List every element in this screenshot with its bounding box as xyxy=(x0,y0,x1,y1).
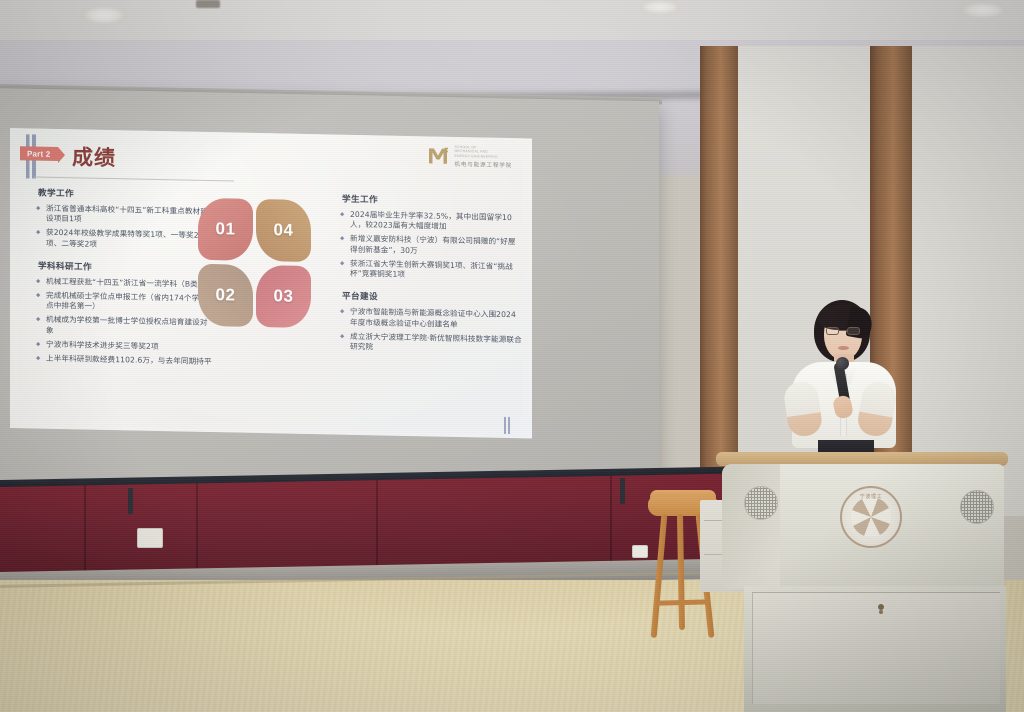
wall-pilaster xyxy=(700,46,738,516)
speaker-grille-icon xyxy=(960,490,994,524)
logo-en-line3: ENERGY ENGINEERING xyxy=(454,154,512,160)
stool-leg xyxy=(651,514,668,638)
list-item: 上半年科研到款经费1102.6万，与去年同期持平 xyxy=(36,353,214,367)
stool-rung xyxy=(658,599,710,605)
list-item: 浙江省普通本科高校“十四五”新工科重点教材建设项目1项 xyxy=(36,204,214,228)
bullet-list: 机械工程获批“十四五”浙江省一流学科（B类） 完成机械硕士学位点申报工作（省内1… xyxy=(36,277,214,367)
slide-decoration xyxy=(504,417,510,434)
school-logo: SCHOOL OF MECHANICAL AND ENERGY ENGINEER… xyxy=(427,144,512,168)
ceiling-light xyxy=(640,0,680,14)
speaker-grille-icon xyxy=(744,486,778,520)
title-divider xyxy=(34,176,234,181)
section-teaching: 教学工作 浙江省普通本科高校“十四五”新工科重点教材建设项目1项 获2024年校… xyxy=(36,187,214,253)
stool-leg xyxy=(677,514,685,630)
slide-left-column: 教学工作 浙江省普通本科高校“十四五”新工科重点教材建设项目1项 获2024年校… xyxy=(36,187,214,379)
bullet-list: 宁波市智能制造与新能源概念验证中心入围2024年度市级概念验证中心创建名单 成立… xyxy=(340,307,522,356)
lectern-side-panel xyxy=(722,464,780,589)
ceiling-vent xyxy=(196,0,220,8)
list-item: 宁波市智能制造与新能源概念验证中心入围2024年度市级概念验证中心创建名单 xyxy=(340,307,522,331)
section-heading: 学生工作 xyxy=(342,193,522,209)
wall-socket[interactable] xyxy=(632,545,648,558)
list-item: 新增义赢安防科技（宁波）有限公司捐赠的“好屋得创新基金”，30万 xyxy=(340,234,522,258)
panel-seam xyxy=(376,480,378,572)
glasses-lens xyxy=(847,327,860,335)
lectern-cabinet-door[interactable] xyxy=(752,592,1000,704)
presenter xyxy=(778,300,906,470)
wall-panel xyxy=(912,46,1024,516)
petal-01: 01 xyxy=(198,198,253,261)
emblem-text: 宁波理工 xyxy=(842,493,900,500)
section-student-work: 学生工作 2024届毕业生升学率32.5%，其中出国留学10人，较2023届有大… xyxy=(340,193,522,283)
mouth xyxy=(838,346,849,350)
section-heading: 教学工作 xyxy=(38,187,214,203)
bullet-list: 浙江省普通本科高校“十四五”新工科重点教材建设项目1项 获2024年校级教学成果… xyxy=(36,204,214,253)
part-badge: Part 2 xyxy=(20,146,58,161)
list-item: 成立浙大宁波理工学院·新优智照科技数字能源联合研究院 xyxy=(340,331,522,355)
screen-bracket xyxy=(620,478,625,504)
slide-right-column: 学生工作 2024届毕业生升学率32.5%，其中出国留学10人，较2023届有大… xyxy=(340,193,522,367)
logo-cn: 机电与能源工程学院 xyxy=(454,160,512,169)
bullet-list: 2024届毕业生升学率32.5%，其中出国留学10人，较2023届有大幅度增加 … xyxy=(340,210,522,283)
list-item: 获2024年校级教学成果特等奖1项、一等奖2项、二等奖2项 xyxy=(36,228,214,252)
list-item: 获浙江省大学生创新大赛铜奖1项、浙江省“挑战杯”竞赛铜奖1项 xyxy=(340,258,522,282)
section-heading: 学科科研工作 xyxy=(38,260,214,276)
logo-mark-icon xyxy=(427,146,449,166)
glasses-icon xyxy=(826,327,860,335)
petal-diagram: 01 04 02 03 xyxy=(198,198,316,335)
list-item: 机械成为学校第一批博士学位授权点培育建设对象 xyxy=(36,315,214,339)
petal-04: 04 xyxy=(256,199,311,262)
ceiling-light xyxy=(960,2,1006,18)
glasses-bridge xyxy=(839,330,847,331)
panel-seam xyxy=(610,476,612,568)
list-item: 完成机械硕士学位点申报工作（省内174个学位点中排名第一） xyxy=(36,291,214,315)
petal-03: 03 xyxy=(256,265,311,328)
panel-seam xyxy=(84,485,86,577)
section-research: 学科科研工作 机械工程获批“十四五”浙江省一流学科（B类） 完成机械硕士学位点申… xyxy=(36,260,214,367)
petal-02: 02 xyxy=(198,264,253,327)
university-emblem-icon: 宁波理工 xyxy=(840,486,902,548)
glasses-lens xyxy=(826,327,839,335)
panel-seam xyxy=(196,483,198,575)
screen-bracket xyxy=(128,488,133,514)
lecture-hall-photo: Part 2 成绩 SCHOOL OF MECHANICAL AND ENERG… xyxy=(0,0,1024,712)
wall-switch-plate[interactable] xyxy=(137,528,163,548)
ceiling-light xyxy=(82,6,126,24)
emblem-inner xyxy=(851,497,891,537)
lectern: 宁波理工 xyxy=(712,452,1012,712)
lock-icon[interactable] xyxy=(878,604,884,610)
section-platform: 平台建设 宁波市智能制造与新能源概念验证中心入围2024年度市级概念验证中心创建… xyxy=(340,290,522,356)
slide-title: 成绩 xyxy=(72,141,116,172)
list-item: 2024届毕业生升学率32.5%，其中出国留学10人，较2023届有大幅度增加 xyxy=(340,210,522,234)
presentation-slide: Part 2 成绩 SCHOOL OF MECHANICAL AND ENERG… xyxy=(10,128,532,438)
section-heading: 平台建设 xyxy=(342,290,522,306)
list-item: 机械工程获批“十四五”浙江省一流学科（B类） xyxy=(36,277,214,291)
list-item: 宁波市科学技术进步奖三等奖2项 xyxy=(36,339,214,353)
